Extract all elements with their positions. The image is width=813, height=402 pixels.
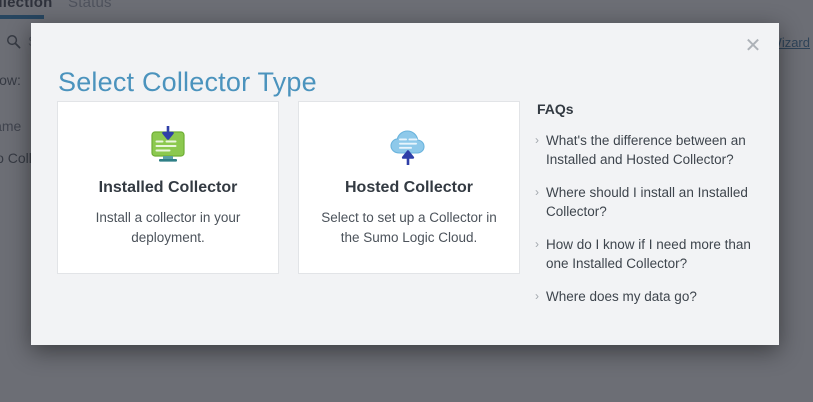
faq-link-label: Where should I install an Installed Coll… xyxy=(546,183,757,221)
faq-link-label: Where does my data go? xyxy=(546,287,697,306)
card-installed-collector[interactable]: Installed Collector Install a collector … xyxy=(57,101,279,274)
faq-link[interactable]: › Where does my data go? xyxy=(535,287,757,306)
hosted-collector-cloud-upload-icon xyxy=(387,126,431,168)
card-description: Select to set up a Collector in the Sumo… xyxy=(321,208,497,248)
chevron-right-icon: › xyxy=(535,287,546,306)
card-hosted-collector[interactable]: Hosted Collector Select to set up a Coll… xyxy=(298,101,520,274)
faq-link-label: How do I know if I need more than one In… xyxy=(546,235,757,273)
card-title: Installed Collector xyxy=(99,179,238,197)
faq-link[interactable]: › What's the difference between an Insta… xyxy=(535,131,757,169)
close-icon[interactable]: ✕ xyxy=(741,34,765,58)
dialog-title: Select Collector Type xyxy=(58,67,317,98)
faq-link[interactable]: › How do I know if I need more than one … xyxy=(535,235,757,273)
chevron-right-icon: › xyxy=(535,183,546,202)
card-description: Install a collector in your deployment. xyxy=(80,208,256,248)
chevron-right-icon: › xyxy=(535,235,546,254)
faq-link[interactable]: › Where should I install an Installed Co… xyxy=(535,183,757,221)
collector-type-cards: Installed Collector Install a collector … xyxy=(57,101,520,274)
faq-panel: FAQs › What's the difference between an … xyxy=(535,101,757,320)
select-collector-type-dialog: ✕ Select Collector Type xyxy=(31,23,779,345)
faq-heading: FAQs xyxy=(537,101,757,117)
faq-link-label: What's the difference between an Install… xyxy=(546,131,757,169)
chevron-right-icon: › xyxy=(535,131,546,150)
installed-collector-monitor-download-icon xyxy=(146,126,190,168)
card-title: Hosted Collector xyxy=(345,179,473,197)
